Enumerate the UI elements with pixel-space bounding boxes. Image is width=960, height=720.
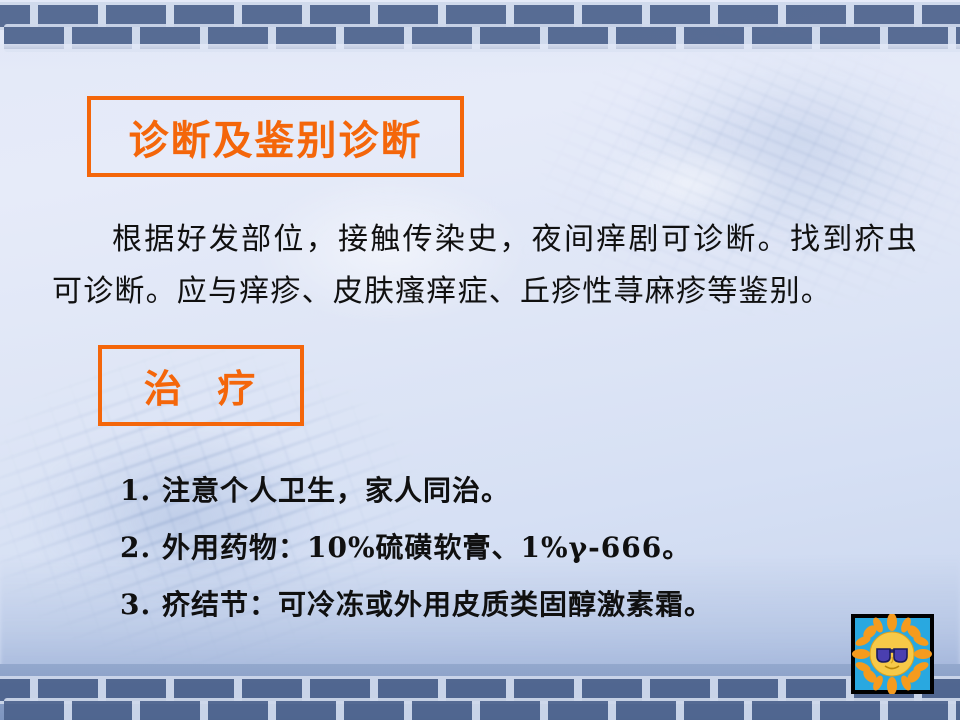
slide-canvas: 诊断及鉴别诊断 根据好发部位，接触传染史，夜间痒剧可诊断。找到疥虫可诊断。应与痒… (0, 0, 960, 720)
sun-with-sunglasses-icon (851, 614, 934, 694)
heading-treatment-text: 治 疗 (144, 358, 258, 413)
heading-diagnosis-text: 诊断及鉴别诊断 (129, 108, 423, 166)
list-item: 3. 疥结节：可冷冻或外用皮质类固醇激素霜。 (120, 576, 920, 633)
list-item: 2. 外用药物：10%硫磺软膏、1%γ-666。 (120, 519, 920, 576)
paragraph-diagnosis: 根据好发部位，接触传染史，夜间痒剧可诊断。找到疥虫可诊断。应与痒疹、皮肤瘙痒症、… (52, 214, 918, 318)
list-item: 1. 注意个人卫生，家人同治。 (120, 462, 920, 519)
slide-content: 诊断及鉴别诊断 根据好发部位，接触传染史，夜间痒剧可诊断。找到疥虫可诊断。应与痒… (0, 0, 960, 720)
treatment-list: 1. 注意个人卫生，家人同治。 2. 外用药物：10%硫磺软膏、1%γ-666。… (120, 462, 920, 633)
heading-box-treatment: 治 疗 (98, 345, 304, 426)
heading-box-diagnosis: 诊断及鉴别诊断 (87, 96, 464, 177)
